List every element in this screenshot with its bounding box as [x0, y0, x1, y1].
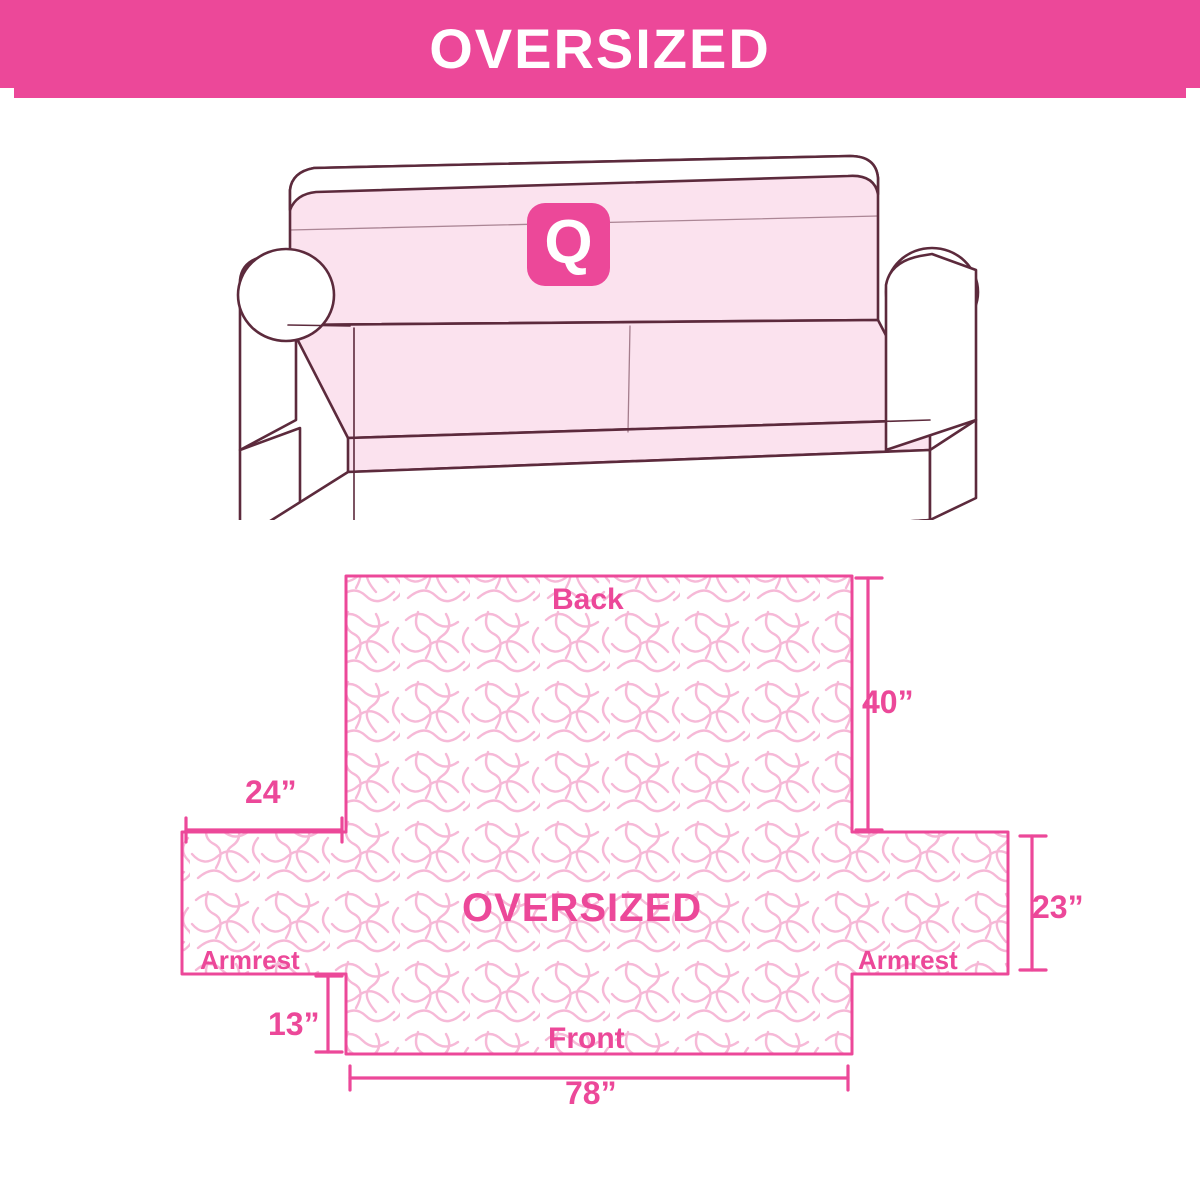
- label-size-center: OVERSIZED: [462, 888, 702, 928]
- page-title: OVERSIZED: [429, 21, 771, 77]
- label-armrest-right: Armrest: [858, 947, 958, 973]
- dimension-total-width: 78”: [565, 1077, 617, 1109]
- brand-logo-badge: Q: [527, 203, 610, 286]
- sofa-illustration: [230, 120, 990, 520]
- label-armrest-left: Armrest: [200, 947, 300, 973]
- dimension-front-drop: 13”: [268, 1008, 320, 1040]
- header-notch-right: [1186, 88, 1200, 98]
- label-back: Back: [552, 585, 624, 615]
- brand-logo-letter: Q: [544, 212, 592, 274]
- dimension-armrest-width: 24”: [245, 776, 297, 808]
- dimension-armrest-height: 23”: [1032, 891, 1084, 923]
- dimension-back-depth: 40”: [862, 686, 914, 718]
- label-front: Front: [548, 1024, 625, 1054]
- header-notch-left: [0, 88, 14, 98]
- page-header: OVERSIZED: [0, 0, 1200, 98]
